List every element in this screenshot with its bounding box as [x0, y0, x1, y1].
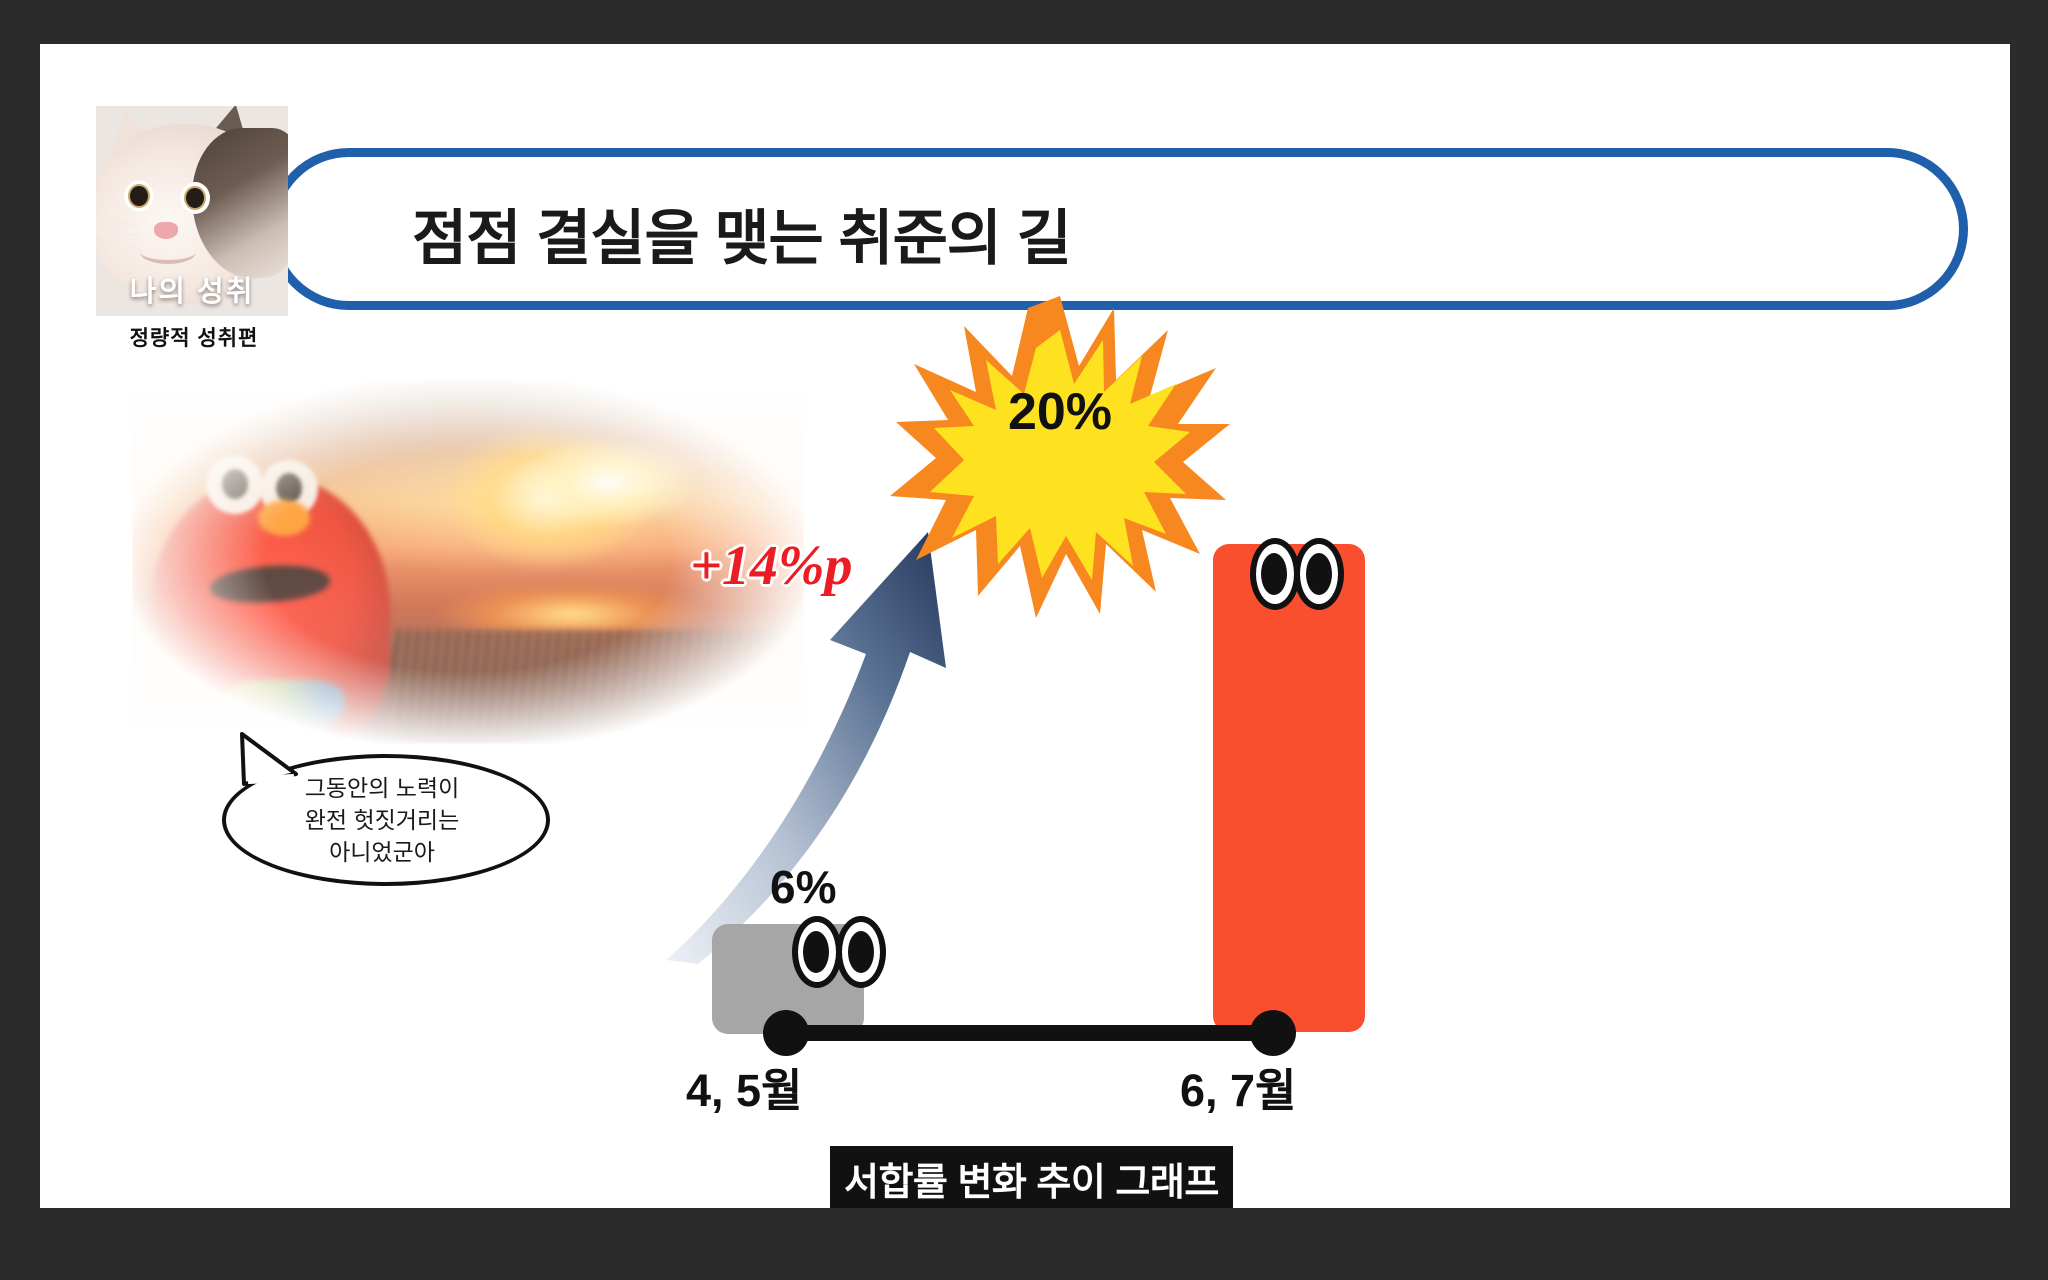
screenshot-stage: 점점 결실을 맺는 취준의 길 나의 성취 정량적 성취편	[0, 0, 2048, 1280]
cat-badge-label: 나의 성취	[96, 268, 288, 316]
slide-canvas: 점점 결실을 맺는 취준의 길 나의 성취 정량적 성취편	[40, 44, 2010, 1208]
x-axis-label-6-7month: 6, 7월	[1180, 1054, 1296, 1119]
starburst-value-label: 20%	[890, 382, 1230, 442]
cat-mouth-icon	[140, 240, 196, 264]
speech-bubble-text: 그동안의 노력이 완전 헛짓거리는 아니었군아	[222, 772, 542, 868]
cat-badge-sublabel: 정량적 성취편	[96, 322, 292, 352]
chart-caption-note: *서합률 = (서류합격수 / 서류 제출수)*100	[830, 1202, 1290, 1208]
googly-eyes-right	[1250, 538, 1348, 610]
trend-connector-line	[774, 1025, 1275, 1041]
cat-eye-right-icon	[180, 182, 210, 214]
googly-eyes-left	[792, 916, 890, 988]
x-axis-label-4-5month: 4, 5월	[686, 1054, 802, 1119]
data-point-4-5month	[763, 1010, 809, 1056]
data-point-6-7month	[1250, 1010, 1296, 1056]
cat-eye-left-icon	[124, 180, 154, 212]
chart-area: +14%p 20% 6% 4, 5월 6, 7월	[660, 344, 1360, 1164]
bar-6-7month	[1213, 544, 1365, 1032]
elmo-scarf	[224, 680, 344, 734]
delta-annotation: +14%p	[690, 534, 853, 598]
page-title: 점점 결실을 맺는 취준의 길	[412, 190, 1071, 277]
starburst-icon	[890, 292, 1230, 622]
elmo-nose	[258, 500, 310, 536]
cat-nose-icon	[154, 222, 178, 239]
cat-photo: 나의 성취	[96, 106, 288, 316]
cat-badge: 나의 성취	[96, 106, 288, 316]
bar-value-4-5month: 6%	[770, 860, 836, 914]
chart-caption-title: 서합률 변화 추이 그래프	[830, 1146, 1233, 1208]
